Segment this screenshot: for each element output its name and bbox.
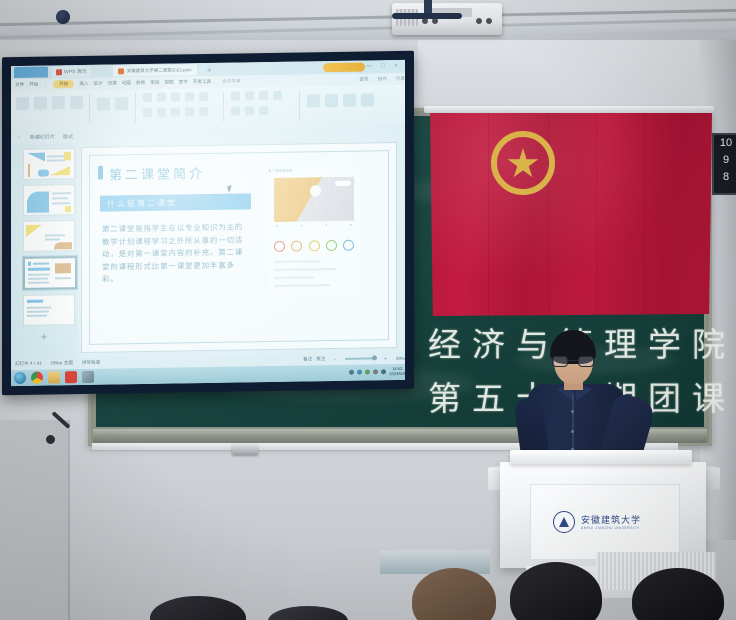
ribbon-layout-button[interactable] [115,97,128,110]
tray-icon-2[interactable] [357,369,362,374]
wps-file-tab[interactable]: 安徽建筑大学第二课堂2023.pptx [113,64,197,76]
slide-thumbnail-4[interactable] [23,256,77,290]
slide-thumbnail-1[interactable] [23,148,75,180]
account-badge[interactable] [323,63,365,73]
university-name-cn: 安徽建筑大学 [581,513,641,526]
ribbon-table-button[interactable] [307,94,320,107]
slide-image-navrow: ■■■■ [276,223,352,228]
slide-image-pill [335,181,351,186]
glasses-bridge [568,360,578,361]
audience-head [412,568,496,620]
ribbon-group-button[interactable] [259,106,268,115]
image-viewer-icon[interactable] [82,371,94,383]
zoom-slider-knob[interactable] [372,356,377,361]
subbar-newslide-label[interactable]: 新建幻灯片 [30,133,55,140]
office-theme-label: Office 主题 [51,360,73,366]
slide-thumbnail-3[interactable] [23,220,75,252]
menu-item-9[interactable]: 章节 [179,79,188,85]
wps-home-tab[interactable] [14,67,48,79]
menu-pill-active[interactable]: 开始 [53,80,74,88]
plaque-line-2: 9 [714,152,736,169]
university-name-en: ANHUI JIANZHU UNIVERSITY [581,526,640,530]
ribbon-font-color-button[interactable] [185,92,194,101]
slide-title: 第二课堂简介 [109,163,205,184]
menu-item-6[interactable]: 放映 [136,80,145,86]
wps-office-icon[interactable] [65,371,77,383]
ribbon-newslide-button[interactable] [97,98,110,111]
window-controls[interactable]: — □ × [366,63,402,70]
menu-item-10[interactable]: 开发工具 [193,79,211,85]
ribbon-find-label[interactable]: 查找 [359,76,368,82]
projector-cable-knob [56,10,70,24]
wps-doc-tab[interactable]: WPS 演示 [52,66,91,78]
projector [392,3,502,35]
menu-item-3[interactable]: 设计 [93,81,102,87]
lightbulb-icon [310,185,321,196]
ribbon-font-underline-button[interactable] [171,92,180,101]
slide-image-circle-icons [274,240,354,252]
views-label[interactable]: 备注 · 批注 [303,356,325,362]
menu-item-7[interactable]: 审阅 [150,80,159,86]
audience-head [632,568,724,620]
slide-thumbnail-pane[interactable]: + [11,143,77,358]
slide-thumbnail-5[interactable] [23,294,75,326]
glasses-lens-right [578,356,594,367]
ribbon-line-spacing-button[interactable] [231,91,240,100]
plaque-line-3: 8 [714,169,736,186]
plaque-line-1: 10 [714,135,736,152]
flag-rod [424,106,714,113]
seal-inner-shape [559,517,569,527]
tray-volume-icon[interactable] [373,369,378,374]
projected-desktop: WPS 演示 安徽建筑大学第二课堂2023.pptx + — □ × 文件 开始… [11,60,405,386]
subbar-layout-label[interactable]: 版式 [63,133,73,140]
latch-knob [46,435,55,444]
ribbon-bullets-button[interactable] [185,107,194,116]
slide-body-text: 第二课堂是指学生在以专业知识为主的教学计划课程学习之外所从事的一切活动，是对第一… [102,221,250,286]
system-tray: 14:52 2023/5/9 [349,366,405,377]
ribbon-align-left-button[interactable] [143,108,152,117]
ribbon-chart-button[interactable] [361,93,374,106]
wall-upper-right [418,40,736,112]
menu-item-5[interactable]: 动画 [122,80,131,86]
ribbon-format-painter-button[interactable] [70,96,83,109]
slide-count-label: 幻灯片 4 / 41 [15,361,42,367]
ribbon-picture-button[interactable] [343,94,356,107]
ribbon-shapes-button[interactable] [325,94,338,107]
projection-screen: WPS 演示 安徽建筑大学第二课堂2023.pptx + — □ × 文件 开始… [2,51,414,395]
slide-subtitle: 什么是第二课堂 [100,193,251,211]
ribbon-text-direction-button[interactable] [259,91,268,100]
slide-canvas[interactable]: 第二课堂简介 什么是第二课堂 第二课堂是指学生在以专业知识为主的教学计划课程学习… [81,142,397,353]
ribbon-align-objects-button[interactable] [245,106,254,115]
internet-explorer-icon[interactable] [14,372,26,384]
new-tab-button[interactable]: + [207,64,212,74]
pptx-file-icon [118,68,124,74]
ribbon-columns-button[interactable] [245,91,254,100]
menu-item-1[interactable]: 开始 [29,82,38,88]
menu-item-0[interactable]: 文件 [15,82,24,88]
projector-arm [392,13,462,19]
menu-item-11[interactable]: 会员专享 [222,78,240,84]
shirt-button [571,430,574,433]
menu-item-8[interactable]: 视图 [164,80,173,86]
youth-league-emblem-icon [491,131,555,195]
menu-item-4[interactable]: 切换 [108,80,117,86]
wps-logo-icon [56,69,62,75]
taskbar-clock[interactable]: 14:52 2023/5/9 [389,366,405,376]
tray-network-icon[interactable] [381,369,386,374]
zoom-level-label: 49% [396,355,405,360]
add-slide-button[interactable]: + [11,331,77,344]
ribbon-highlight-button[interactable] [199,92,208,101]
ribbon-numbering-button[interactable] [199,107,208,116]
zoom-minus-button[interactable]: - [335,356,337,361]
classroom-scene: 经济与管理学院 第五十一期团课 10 9 8 [0,0,736,620]
spellcheck-label[interactable]: 拼写检查 [82,360,100,366]
audience-head [150,596,246,620]
folder-icon[interactable] [48,371,60,383]
audience-head [268,606,348,620]
tray-icon-1[interactable] [349,369,354,374]
university-seal-icon [553,511,575,533]
lightbulb-stem [313,196,318,205]
ribbon-align-center-button[interactable] [157,108,166,117]
podium-front-panel: 安徽建筑大学 ANHUI JIANZHU UNIVERSITY [530,484,680,560]
ribbon-arrange-button[interactable] [231,106,240,115]
ribbon-cut-button[interactable] [34,97,47,110]
slide-title-accent [98,166,103,180]
slide-screenshot-image: 第二课堂成绩单 ■■■■ [268,168,360,297]
podium-top-desk [510,450,692,464]
star-icon [507,148,539,180]
slide-thumbnail-2[interactable] [23,184,75,216]
wall-plaque: 10 9 8 [712,133,736,195]
ribbon-font-italic-button[interactable] [157,93,166,102]
chrome-icon[interactable] [31,372,43,384]
ribbon-collab-label[interactable]: 协作 [378,76,387,82]
zoom-plus-button[interactable]: + [384,356,387,361]
slide-image-caption: 第二课堂成绩单 [268,168,360,175]
ribbon-share-label[interactable]: 分享 [396,76,405,82]
wps-ribbon [11,85,405,131]
zoom-slider[interactable] [345,358,375,360]
eraser[interactable] [232,444,258,455]
ribbon-font-bold-button[interactable] [143,93,152,102]
slide-image-hero [274,177,354,222]
glasses-lens-left [552,356,568,367]
wps-file-tab-label: 安徽建筑大学第二课堂2023.pptx [127,67,192,74]
glasses-icon [551,356,596,367]
shirt-button [571,410,574,413]
youth-league-flag [430,111,712,316]
ribbon-shape-fill-button[interactable] [273,91,282,100]
audience [0,550,736,620]
audience-head [510,562,602,620]
ribbon-align-right-button[interactable] [171,107,180,116]
ribbon-paste-button[interactable] [16,97,29,110]
wps-doc-tab-label: WPS 演示 [64,68,87,75]
clock-date: 2023/5/9 [389,371,405,376]
menu-item-2[interactable]: 插入 [79,81,88,87]
tray-icon-3[interactable] [365,369,370,374]
ribbon-copy-button[interactable] [52,96,65,109]
